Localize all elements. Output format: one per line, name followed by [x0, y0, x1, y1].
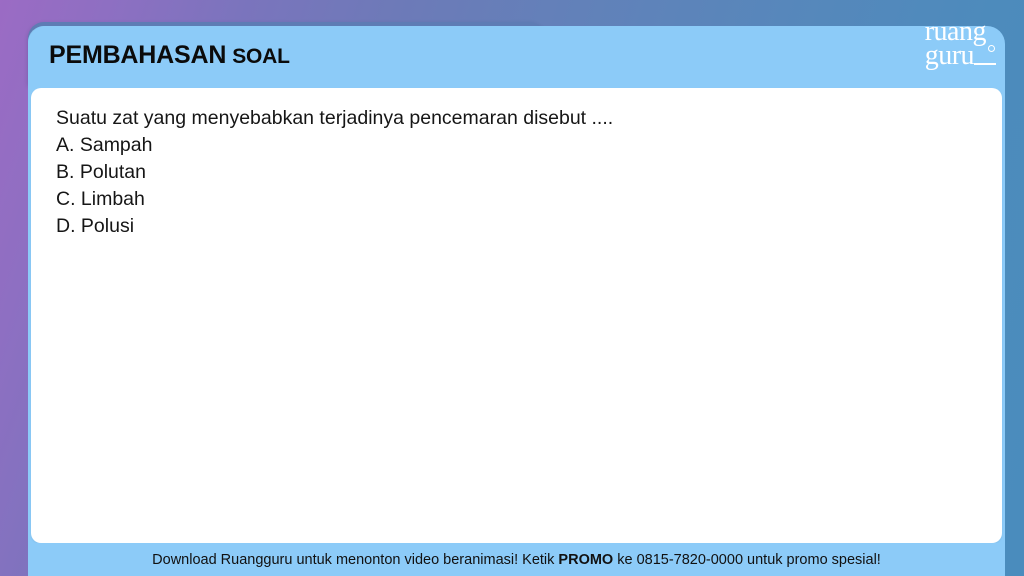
question-block: Suatu zat yang menyebabkan terjadinya pe… [56, 105, 984, 240]
answer-option-c[interactable]: C. Limbah [56, 186, 984, 213]
page-title: PEMBAHASANSOAL [28, 41, 290, 70]
footer-text-after: ke 0815-7820-0000 untuk promo spesial! [613, 552, 881, 568]
ruangguru-logo: ruang guru [925, 20, 986, 68]
content-panel: Suatu zat yang menyebabkan terjadinya pe… [31, 88, 1002, 543]
slide-canvas: PEMBAHASANSOAL Suatu zat yang menyebabka… [0, 0, 1024, 576]
footer-text-before: Download Ruangguru untuk menonton video … [152, 552, 558, 568]
answer-option-b[interactable]: B. Polutan [56, 159, 984, 186]
page-title-sub: SOAL [232, 45, 290, 68]
logo-line-guru: guru [925, 40, 974, 71]
footer-band: Download Ruangguru untuk menonton video … [28, 543, 1005, 576]
slide-card: PEMBAHASANSOAL Suatu zat yang menyebabka… [28, 26, 1005, 576]
logo-line-guru-wrap: guru [925, 44, 986, 68]
header-tab: PEMBAHASANSOAL [28, 26, 361, 84]
question-prompt: Suatu zat yang menyebabkan terjadinya pe… [56, 105, 984, 132]
answer-option-d[interactable]: D. Polusi [56, 213, 984, 240]
page-title-main: PEMBAHASAN [49, 41, 226, 69]
footer-promo-keyword: PROMO [558, 552, 613, 568]
logo-underline-icon [974, 63, 996, 65]
answer-option-a[interactable]: A. Sampah [56, 132, 984, 159]
footer-promo-text: Download Ruangguru untuk menonton video … [152, 552, 881, 568]
